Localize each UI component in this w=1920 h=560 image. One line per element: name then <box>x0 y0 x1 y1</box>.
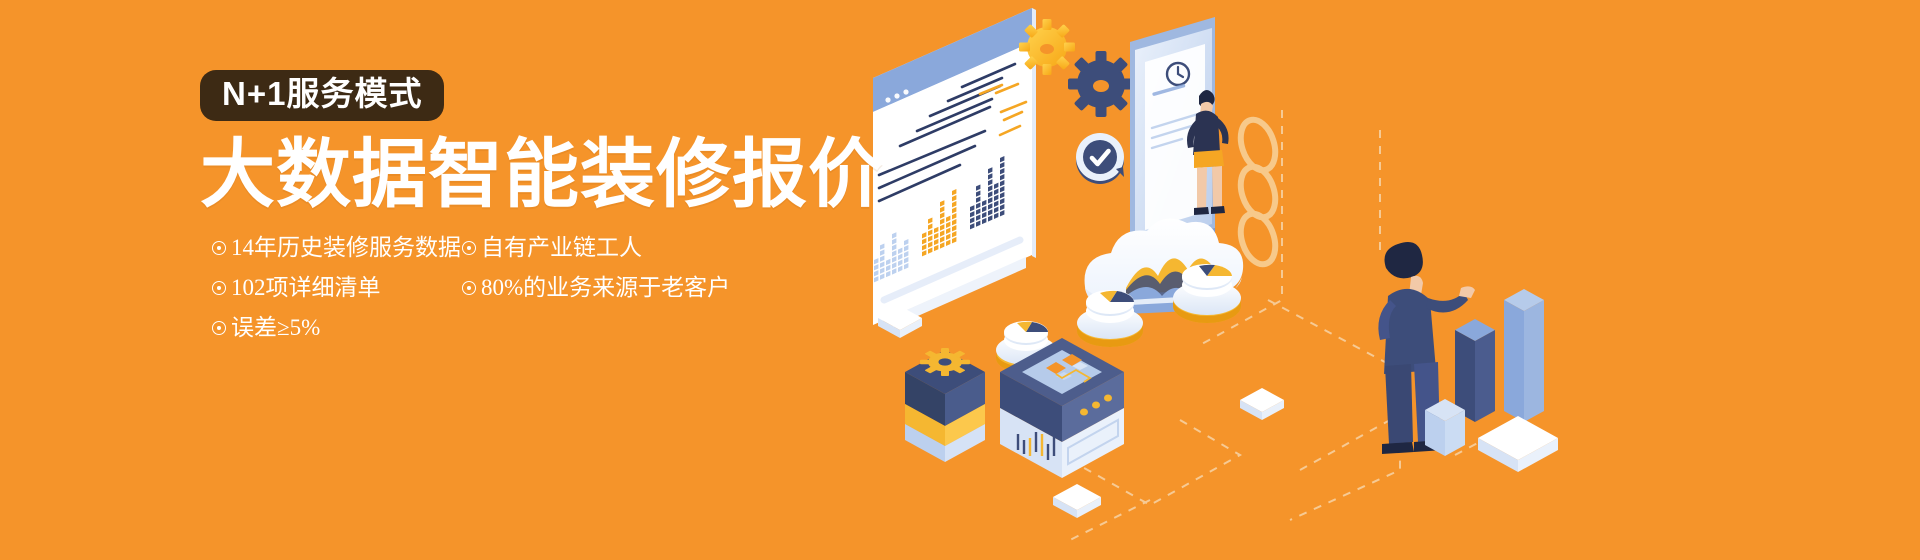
bar-chart-columns <box>1425 289 1558 472</box>
banner-text-block: N+1服务模式 大数据智能装修报价 14年历史装修服务数据 102项详细清单 误… <box>200 70 880 236</box>
service-model-badge: N+1服务模式 <box>200 70 444 121</box>
list-item: 14年历史装修服务数据 <box>212 236 472 259</box>
promo-banner: N+1服务模式 大数据智能装修报价 14年历史装修服务数据 102项详细清单 误… <box>0 0 1920 560</box>
check-badge <box>1076 133 1124 184</box>
page-title: 大数据智能装修报价 <box>200 135 880 215</box>
feature-bullets-right-column: 自有产业链工人 80%的业务来源于老客户 <box>462 236 802 316</box>
gear-navy <box>1068 51 1134 117</box>
target-dot-icon <box>212 321 226 335</box>
list-item-label: 102项详细清单 <box>231 276 381 299</box>
list-item: 80%的业务来源于老客户 <box>462 276 802 299</box>
gear-orange <box>1019 19 1075 75</box>
list-item-label: 80%的业务来源于老客户 <box>481 276 730 299</box>
feature-bullets-left-column: 14年历史装修服务数据 102项详细清单 误差≥5% <box>212 236 472 356</box>
dashboard-window <box>873 0 1036 327</box>
target-dot-icon <box>462 281 476 295</box>
list-item-label: 误差≥5% <box>231 316 320 339</box>
target-dot-icon <box>462 241 476 255</box>
gear-cube <box>905 348 985 462</box>
list-item: 误差≥5% <box>212 316 472 339</box>
target-dot-icon <box>212 241 226 255</box>
rings <box>1235 115 1282 268</box>
list-item-label: 14年历史装修服务数据 <box>231 236 461 259</box>
list-item: 102项详细清单 <box>212 276 472 299</box>
target-dot-icon <box>212 281 226 295</box>
list-item-label: 自有产业链工人 <box>481 236 642 259</box>
list-item: 自有产业链工人 <box>462 236 802 259</box>
